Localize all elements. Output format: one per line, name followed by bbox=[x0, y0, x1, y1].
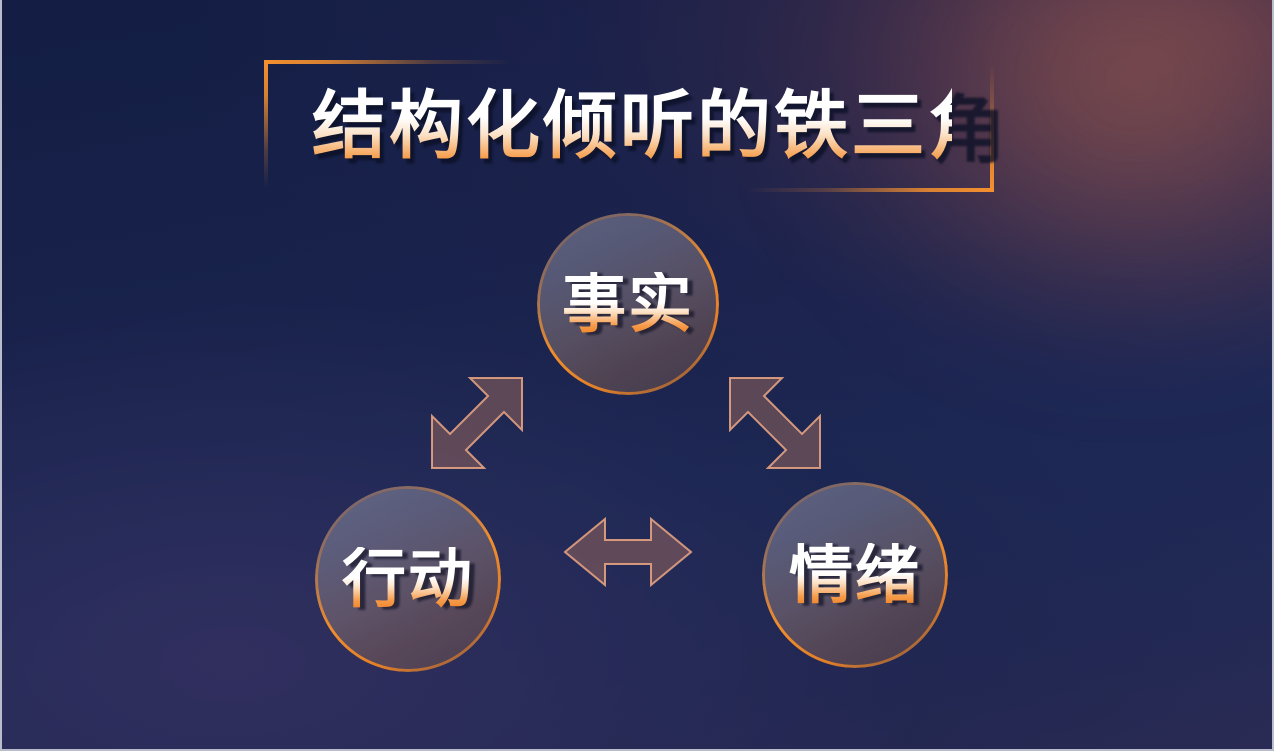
diagram-node-emotion[interactable]: 情绪 情绪 bbox=[762, 482, 948, 668]
diagram-node-fact[interactable]: 事实 事实 bbox=[537, 213, 719, 395]
node-label-emotion: 情绪 bbox=[789, 543, 921, 607]
node-label-action: 行动 bbox=[342, 547, 474, 611]
bracket-horizontal-stroke bbox=[264, 60, 512, 64]
slide-title-block: 结构化倾听的铁三角 结构化倾听的铁三角 bbox=[264, 60, 994, 192]
diagram-node-action[interactable]: 行动 行动 bbox=[315, 486, 501, 672]
node-label-fact: 事实 bbox=[562, 272, 694, 336]
presentation-slide: 结构化倾听的铁三角 结构化倾听的铁三角 事实 事实 行动 行动 情绪 情绪 bbox=[0, 0, 1274, 751]
page-title: 结构化倾听的铁三角 bbox=[312, 74, 952, 178]
bracket-horizontal-stroke bbox=[746, 188, 994, 192]
bracket-vertical-stroke bbox=[264, 60, 268, 188]
